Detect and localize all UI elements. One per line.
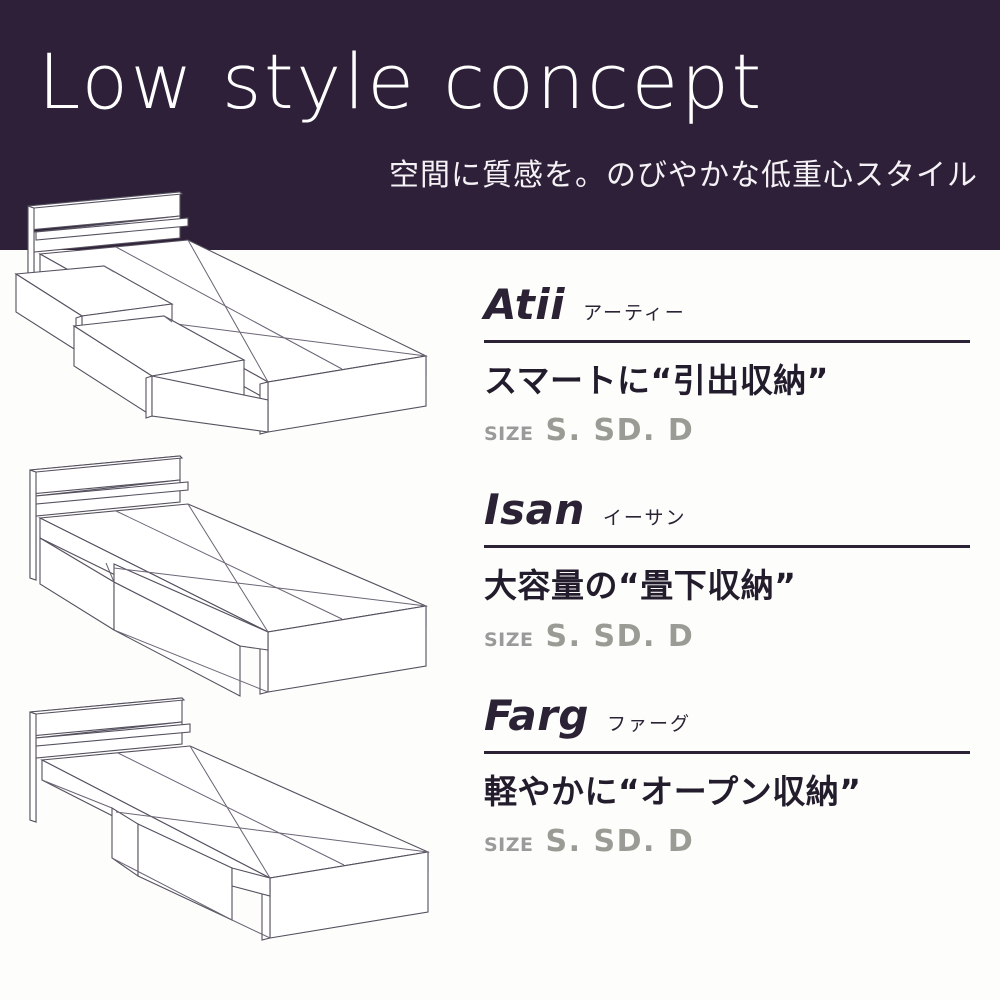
product-divider <box>484 545 970 548</box>
size-label: SIZE <box>484 629 534 651</box>
product-entry-isan[interactable]: Isan イーサン 大容量の“畳下収納” SIZE S. SD. D <box>484 489 974 653</box>
header-banner: Low style concept 空間に質感を。のびやかな低重心スタイル <box>0 0 1000 250</box>
product-divider <box>484 751 970 754</box>
product-tagline: 大容量の“畳下収納” <box>484 568 974 604</box>
product-reading: アーティー <box>583 304 686 323</box>
product-size-row: SIZE S. SD. D <box>484 619 974 654</box>
size-values: S. SD. D <box>546 619 695 654</box>
bed-drawing-farg <box>0 690 470 970</box>
product-divider <box>484 340 970 343</box>
product-entry-farg[interactable]: Farg ファーグ 軽やかに“オープン収納” SIZE S. SD. D <box>484 695 974 859</box>
size-label: SIZE <box>484 423 534 445</box>
size-label: SIZE <box>484 834 534 856</box>
product-reading: イーサン <box>603 509 687 528</box>
product-name: Isan <box>484 489 585 531</box>
product-tagline: 軽やかに“オープン収納” <box>484 774 974 810</box>
product-name: Farg <box>484 695 589 737</box>
page-subtitle: 空間に質感を。のびやかな低重心スタイル <box>389 158 978 194</box>
size-values: S. SD. D <box>546 413 695 448</box>
product-name-row: Isan イーサン <box>484 489 974 539</box>
product-entry-atii[interactable]: Atii アーティー スマートに“引出収納” SIZE S. SD. D <box>484 284 974 448</box>
size-values: S. SD. D <box>546 824 695 859</box>
product-list: Atii アーティー スマートに“引出収納” SIZE S. SD. D Isa… <box>484 284 974 859</box>
product-size-row: SIZE S. SD. D <box>484 413 974 448</box>
bed-drawing-isan <box>0 450 470 715</box>
product-size-row: SIZE S. SD. D <box>484 824 974 859</box>
product-name-row: Farg ファーグ <box>484 695 974 745</box>
product-name-row: Atii アーティー <box>484 284 974 334</box>
product-name: Atii <box>484 284 565 326</box>
page-title: Low style concept <box>38 44 764 120</box>
product-tagline: スマートに“引出収納” <box>484 363 974 399</box>
product-reading: ファーグ <box>607 715 691 734</box>
